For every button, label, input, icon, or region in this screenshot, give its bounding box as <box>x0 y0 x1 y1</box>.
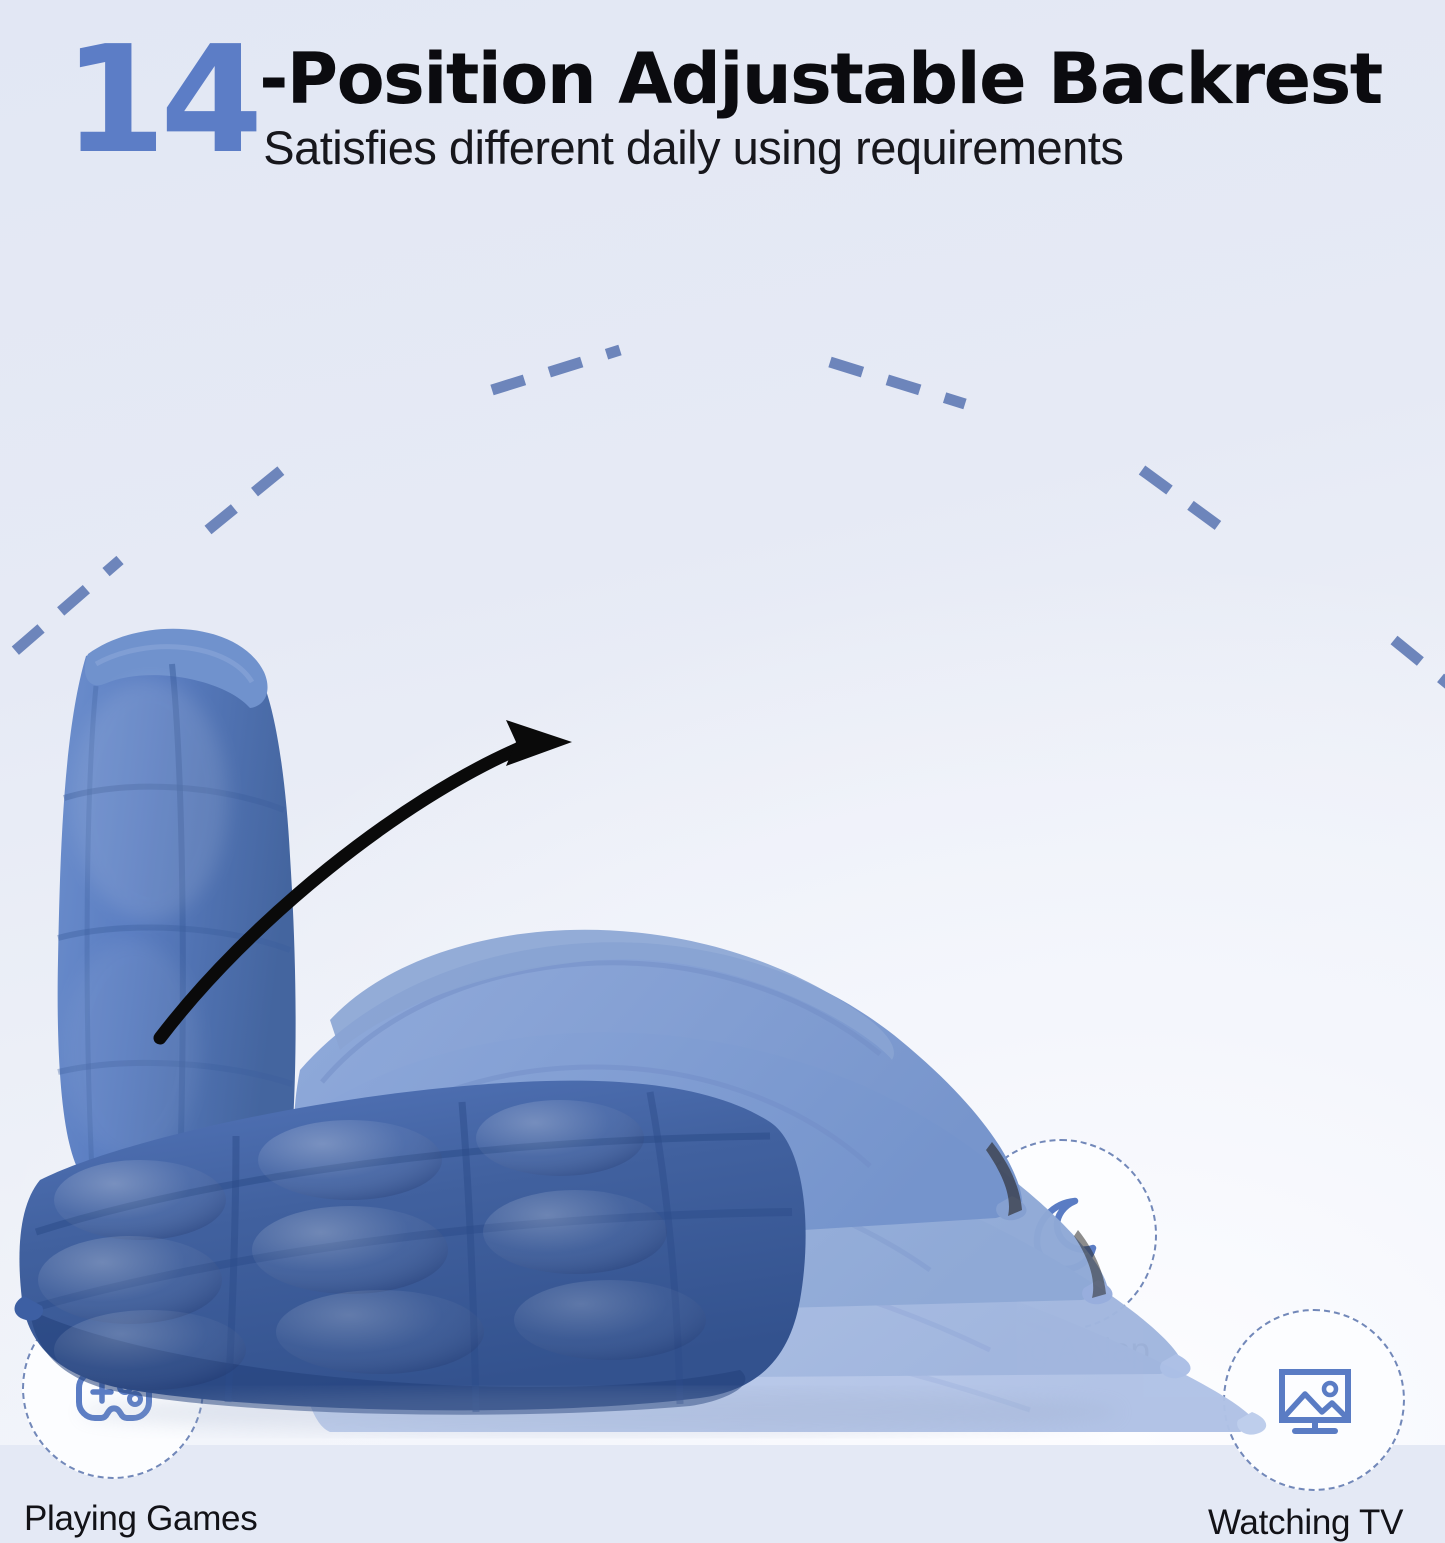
connector-segment-games-working <box>208 455 300 530</box>
chair-illustration-svg <box>0 620 1445 1445</box>
connector-segment-working-reading <box>492 350 620 390</box>
product-image-adjustable-floor-chair <box>0 620 1445 1445</box>
connector-segment-reading-nap <box>830 362 965 404</box>
scenario-label-watching-tv: Watching TV <box>1208 1503 1403 1543</box>
connector-segment-nap-tv <box>1142 470 1238 540</box>
scenario-label-playing-games: Playing Games <box>24 1499 257 1539</box>
